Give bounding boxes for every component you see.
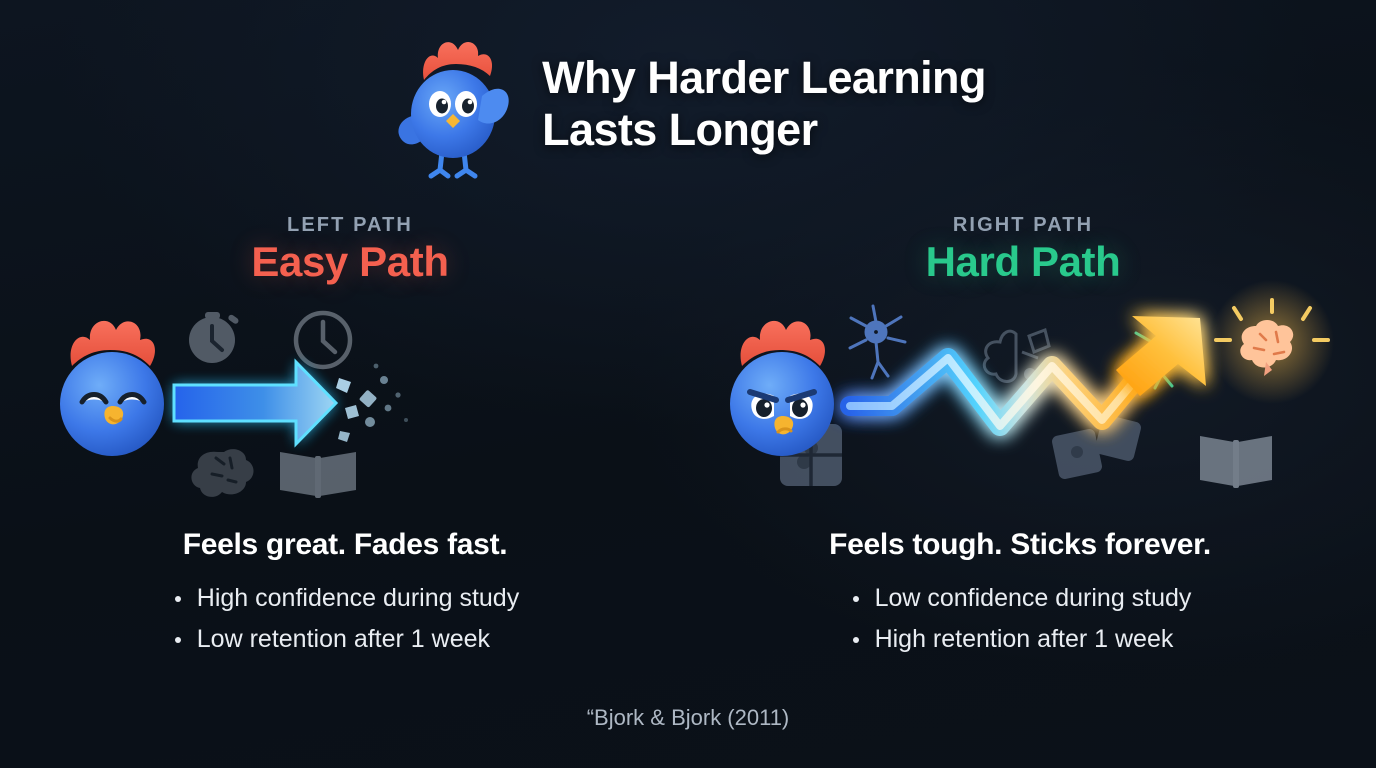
right-path-summary: Feels tough. Sticks forever. Low confide… bbox=[720, 528, 1320, 660]
infographic-slide: Why Harder Learning Lasts Longer LEFT PA… bbox=[0, 0, 1376, 768]
left-path-title: Easy Path bbox=[120, 240, 580, 284]
list-item: Low confidence during study bbox=[849, 578, 1192, 619]
left-bullet-list: High confidence during study Low retenti… bbox=[171, 578, 519, 660]
neuron-icon-blue bbox=[850, 306, 905, 378]
right-path-title: Hard Path bbox=[793, 240, 1253, 284]
right-summary-headline: Feels tough. Sticks forever. bbox=[720, 528, 1320, 562]
title-line-2: Lasts Longer bbox=[542, 104, 986, 156]
arrow-dissolve-particles bbox=[336, 364, 408, 442]
right-path-illustration bbox=[700, 300, 1360, 510]
glowing-brain-icon bbox=[1210, 280, 1334, 404]
open-book-icon bbox=[280, 452, 356, 498]
right-path-eyebrow: RIGHT PATH bbox=[793, 214, 1253, 237]
source-citation: “Bjork & Bjork (2011) bbox=[0, 705, 1376, 731]
blue-bird-mascot-icon bbox=[390, 24, 520, 184]
title-line-1: Why Harder Learning bbox=[542, 52, 986, 104]
list-item: Low retention after 1 week bbox=[171, 619, 519, 660]
left-summary-headline: Feels great. Fades fast. bbox=[45, 528, 645, 562]
list-item: High retention after 1 week bbox=[849, 619, 1192, 660]
open-book-icon bbox=[1200, 436, 1272, 488]
left-bird-mascot-icon bbox=[60, 321, 164, 456]
left-path-heading: LEFT PATH Easy Path bbox=[120, 214, 580, 284]
right-path-heading: RIGHT PATH Hard Path bbox=[793, 214, 1253, 284]
brain-icon bbox=[191, 449, 253, 497]
gold-arrowhead bbox=[1116, 316, 1206, 396]
list-item: High confidence during study bbox=[171, 578, 519, 619]
left-path-illustration bbox=[40, 300, 690, 510]
easy-path-arrow bbox=[174, 362, 336, 444]
right-bird-mascot-icon bbox=[730, 321, 834, 456]
left-path-eyebrow: LEFT PATH bbox=[120, 214, 580, 237]
header: Why Harder Learning Lasts Longer bbox=[0, 24, 1376, 184]
right-bullet-list: Low confidence during study High retenti… bbox=[849, 578, 1192, 660]
page-title: Why Harder Learning Lasts Longer bbox=[542, 52, 986, 156]
stopwatch-icon bbox=[189, 312, 240, 363]
clock-icon bbox=[296, 313, 350, 367]
left-path-summary: Feels great. Fades fast. High confidence… bbox=[45, 528, 645, 660]
hard-path-zigzag bbox=[850, 358, 1152, 426]
